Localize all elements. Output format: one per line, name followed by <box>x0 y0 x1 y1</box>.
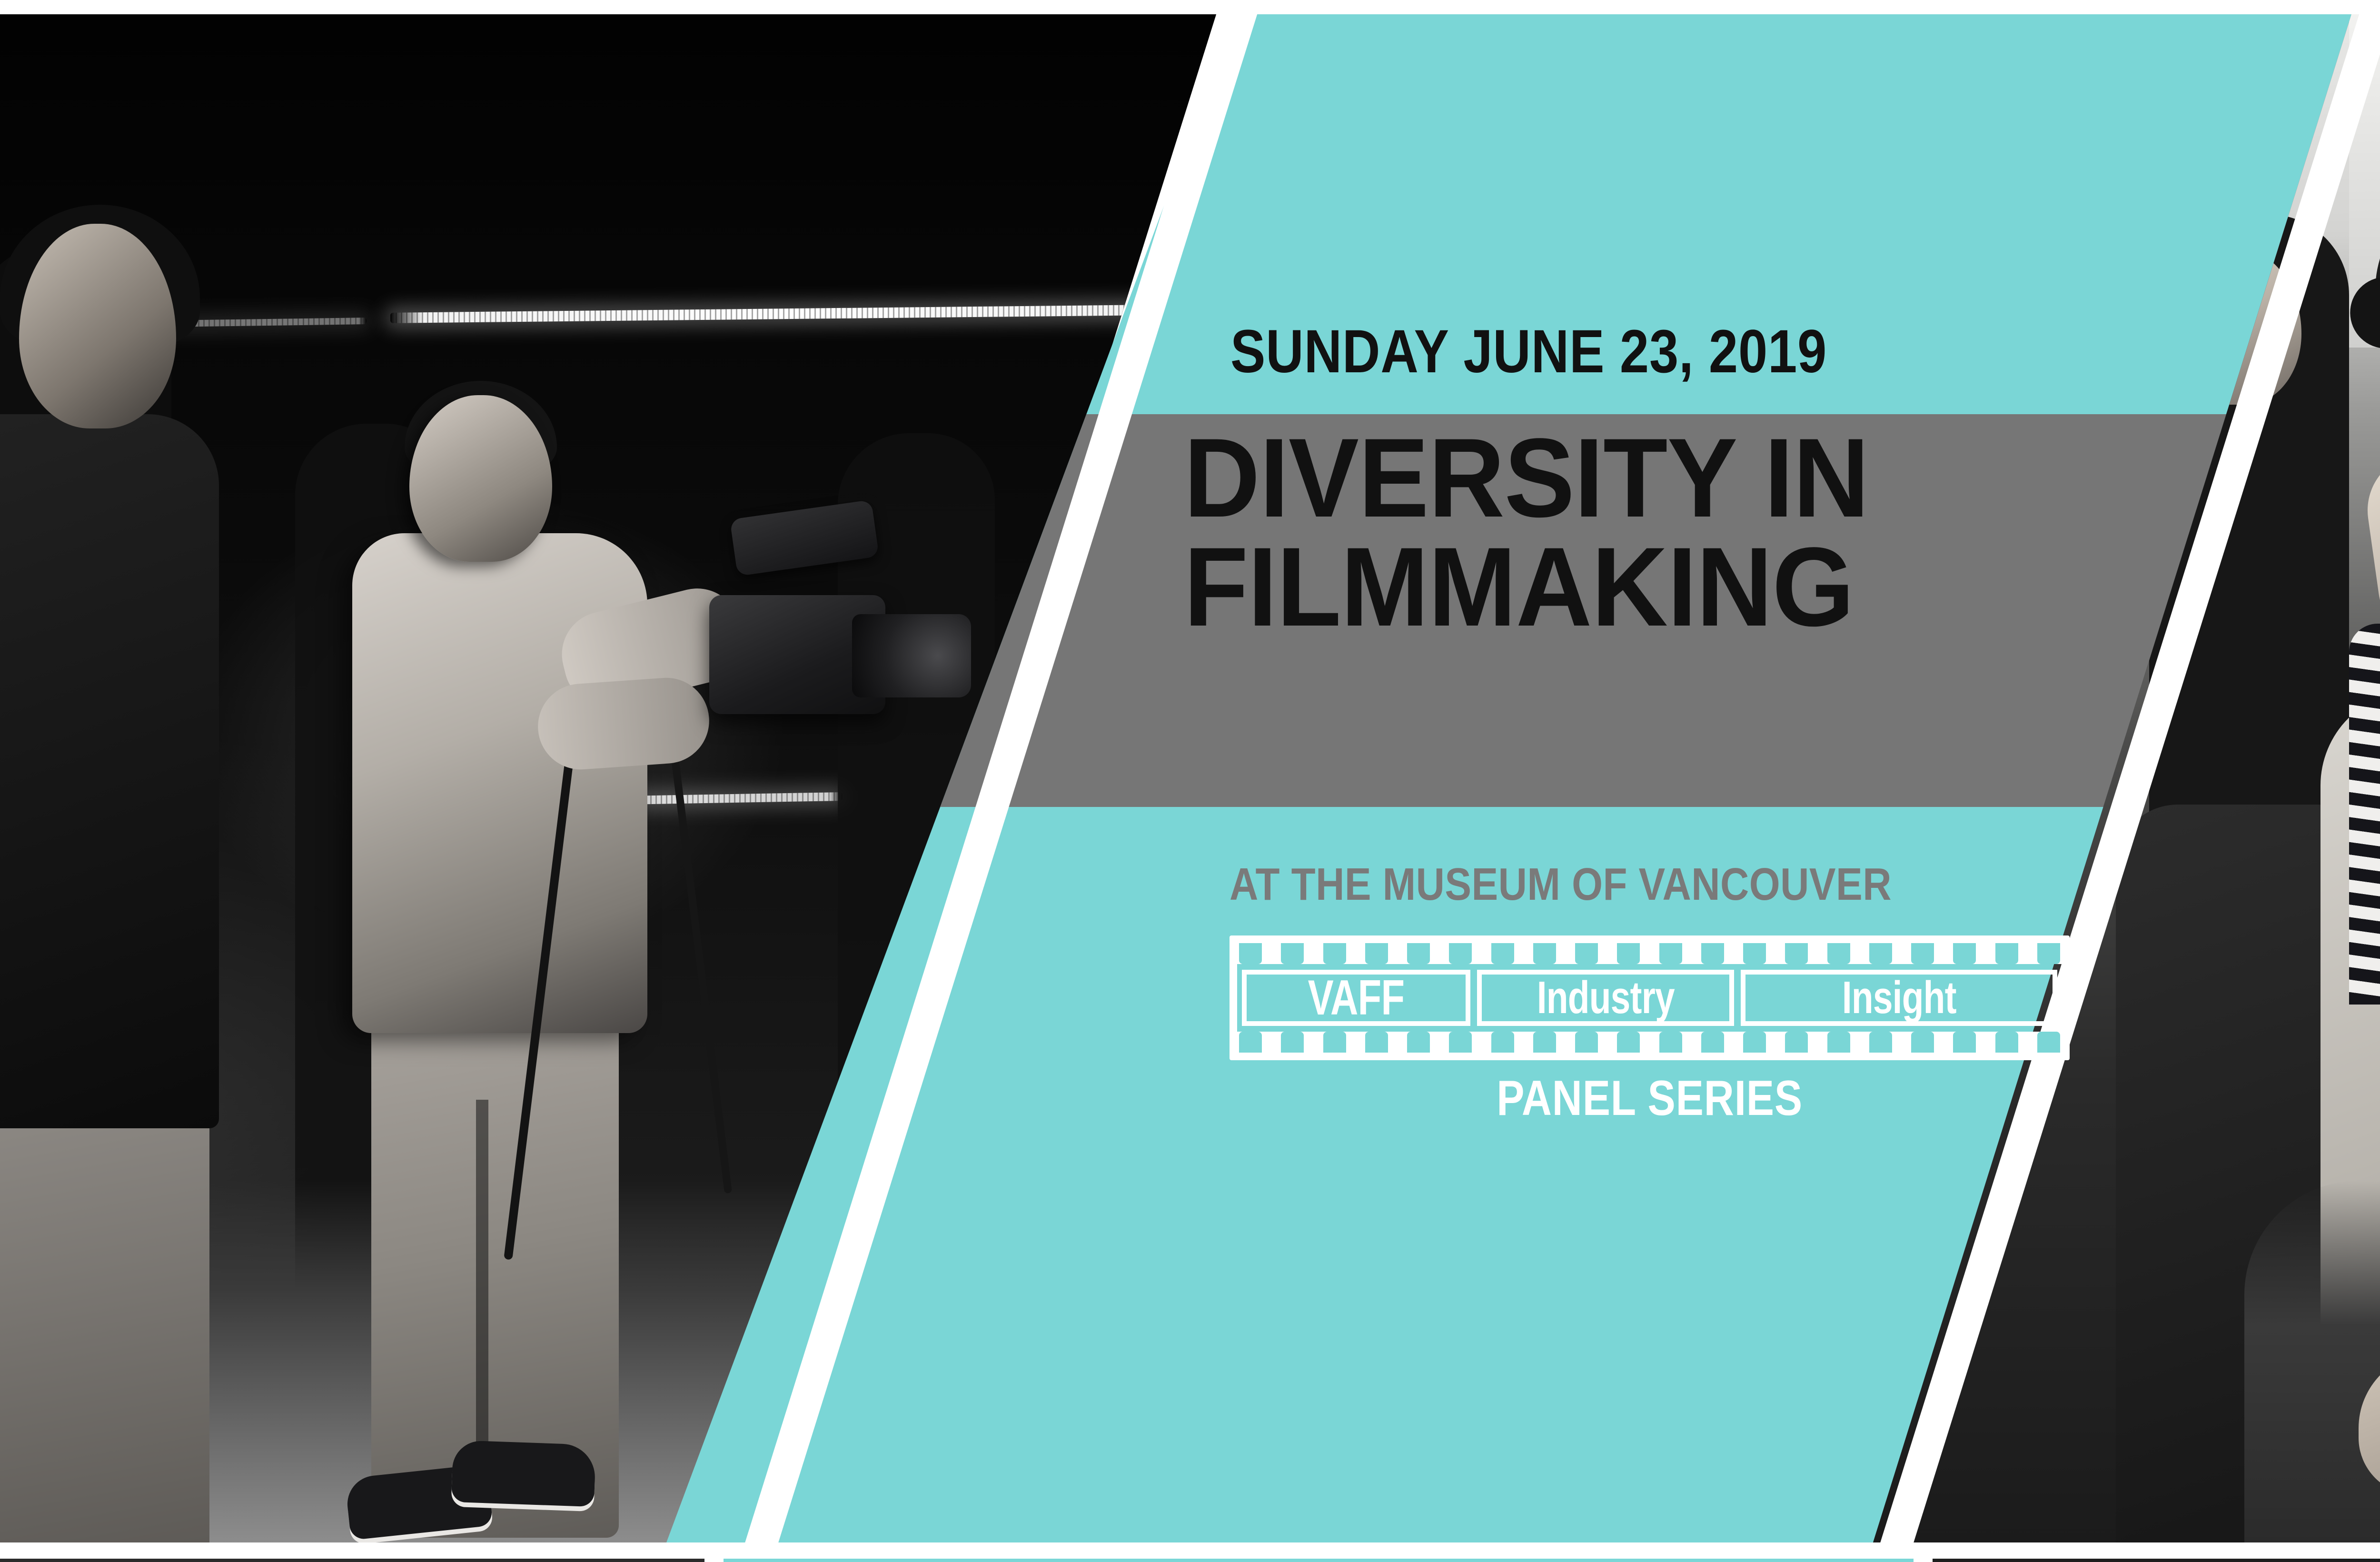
shotgun-mic <box>730 500 879 577</box>
filmstrip-frame-industry: Industry <box>1477 970 1734 1026</box>
repeated-banner-sliver <box>0 1559 2380 1562</box>
seated-laps <box>2244 1181 2380 1542</box>
title-line-2: FILMMAKING <box>1184 533 2195 642</box>
title-line-1: DIVERSITY IN <box>1184 424 2195 533</box>
filmstrip-frames: VAFF Industry Insight <box>1242 970 2057 1026</box>
vaff-industry-insight-logo: VAFF Industry Insight <box>1230 935 2070 1060</box>
top-white-strip <box>0 0 2380 14</box>
frame-label-vaff: VAFF <box>1308 973 1405 1023</box>
foreground-person <box>0 224 248 1542</box>
logo-tagline: PANEL SERIES <box>1230 1074 2070 1123</box>
event-banner: SUNDAY JUNE 23, 2019 DIVERSITY IN FILMMA… <box>0 14 2380 1542</box>
bottom-white-gap <box>0 1542 2380 1559</box>
logo-tagline-text: PANEL SERIES <box>1497 1074 1803 1123</box>
filmstrip-perforations-top <box>1237 943 2062 964</box>
event-text-block: SUNDAY JUNE 23, 2019 DIVERSITY IN FILMMA… <box>1169 62 2263 1181</box>
frame-label-industry: Industry <box>1537 975 1674 1021</box>
filmstrip-frame-insight: Insight <box>1741 970 2057 1026</box>
shoe <box>451 1440 596 1507</box>
frame-label-insight: Insight <box>1842 975 1956 1021</box>
event-venue: AT THE MUSEUM OF VANCOUVER <box>1230 862 1892 907</box>
camera-lens <box>852 614 971 697</box>
filmstrip-perforations-bottom <box>1237 1032 2062 1053</box>
filmstrip-icon: VAFF Industry Insight <box>1230 935 2070 1060</box>
event-date: SUNDAY JUNE 23, 2019 <box>1230 321 1827 382</box>
banner-stage: SUNDAY JUNE 23, 2019 DIVERSITY IN FILMMA… <box>0 0 2380 1562</box>
filmstrip-frame-vaff: VAFF <box>1242 970 1470 1026</box>
page-title: DIVERSITY IN FILMMAKING <box>1184 424 2260 642</box>
